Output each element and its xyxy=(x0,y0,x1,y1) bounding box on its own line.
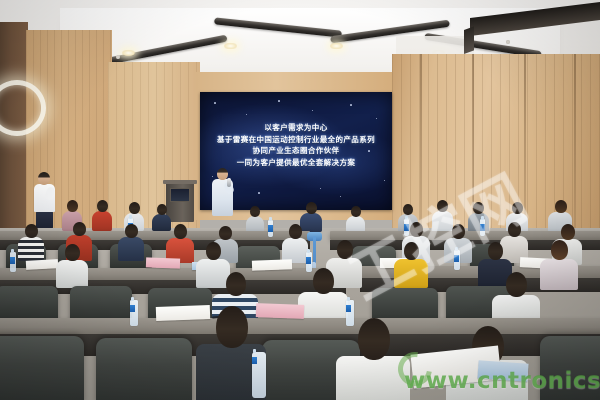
standing-attendee-head xyxy=(38,172,50,185)
attendee-head xyxy=(289,224,302,239)
water-bottle xyxy=(480,219,485,236)
attendee-head xyxy=(561,224,575,240)
attendee-torso xyxy=(92,211,112,231)
attendee-head xyxy=(216,306,248,348)
chair-foreground xyxy=(96,338,192,400)
attendee-head xyxy=(226,272,246,296)
attendee-torso xyxy=(56,260,88,288)
attendee-head xyxy=(219,226,232,240)
ceiling-spotlight xyxy=(224,43,237,49)
attendee-head xyxy=(403,204,413,215)
standing-attendee-left xyxy=(34,172,56,228)
chair-foreground xyxy=(0,336,84,400)
attendee-head xyxy=(129,202,140,214)
attendee-head xyxy=(97,200,108,212)
attendee-head xyxy=(555,200,567,213)
attendee-head xyxy=(174,224,187,239)
attendee-head xyxy=(508,222,521,237)
ceiling-sprinkler xyxy=(116,55,120,59)
wall-corner-edge xyxy=(464,26,474,54)
conference-photo: 以客户需求为中心 基于雷赛在中国运动控制行业最全的产品系列 协同产业生态圈合作伙… xyxy=(0,0,600,400)
attendee-torso xyxy=(540,259,578,290)
attendee-head xyxy=(351,206,361,217)
attendee xyxy=(18,224,44,260)
attendee-torso xyxy=(394,259,428,288)
slide-text-block: 以客户需求为中心 基于雷赛在中国运动控制行业最全的产品系列 协同产业生态圈合作伙… xyxy=(200,122,392,169)
water-bottle xyxy=(10,252,16,272)
attendee-torso xyxy=(118,237,144,261)
attendee-head xyxy=(313,268,334,294)
attendee xyxy=(346,206,365,231)
podium-top xyxy=(163,180,197,184)
attendee-head xyxy=(125,224,138,238)
attendee-head xyxy=(473,202,484,214)
slide-line-2: 基于雷赛在中国运动控制行业最全的产品系列 xyxy=(200,134,392,146)
attendee-head xyxy=(67,200,78,212)
microphone xyxy=(227,178,231,187)
attendee xyxy=(540,240,578,288)
attendee-head xyxy=(506,272,527,297)
water-bottle xyxy=(268,220,273,237)
attendee-torso xyxy=(18,237,44,261)
attendee-torso xyxy=(346,216,365,232)
conference-table xyxy=(0,231,310,240)
attendee-torso xyxy=(336,356,410,400)
attendee-head xyxy=(250,206,260,217)
attendee xyxy=(56,244,88,286)
slide-line-4: 一同为客户提供最优全套解决方案 xyxy=(200,157,392,169)
chair-foreground xyxy=(540,336,600,400)
attendee-head xyxy=(206,242,221,260)
slide-line-3: 协同产业生态圈合作伙伴 xyxy=(200,145,392,157)
podium-monitor xyxy=(170,188,190,202)
attendee xyxy=(394,242,428,286)
attendee-head xyxy=(157,204,167,215)
document-paper xyxy=(26,259,58,270)
attendee-head xyxy=(65,244,80,261)
attendee-head xyxy=(410,222,423,237)
attendee xyxy=(166,224,194,262)
document-folder-pink xyxy=(146,257,180,268)
attendee-torso xyxy=(246,216,264,232)
attendee-head xyxy=(337,240,353,259)
attendee-head xyxy=(404,242,419,260)
attendee-foreground xyxy=(336,318,410,400)
attendee-head xyxy=(25,224,38,238)
water-bottle xyxy=(130,300,138,326)
attendee xyxy=(118,224,144,260)
attendee-head xyxy=(358,318,390,360)
attendee-head xyxy=(452,224,465,239)
ceiling-spotlight xyxy=(122,50,135,56)
water-bottle xyxy=(252,352,266,398)
attendee xyxy=(246,206,264,231)
attendee xyxy=(92,200,112,230)
slide-line-1: 以客户需求为中心 xyxy=(200,122,392,134)
attendee-head xyxy=(512,202,523,214)
ceiling-spotlight xyxy=(330,43,343,49)
ceiling-sprinkler xyxy=(506,40,510,44)
document-paper xyxy=(252,259,292,270)
attendee-head xyxy=(306,202,317,214)
conference-table xyxy=(0,268,346,280)
attendee xyxy=(282,224,308,262)
attendee-head xyxy=(437,200,448,212)
attendee-head xyxy=(488,242,503,260)
document-paper-blue xyxy=(477,360,528,381)
partition-seam xyxy=(574,54,576,250)
partition-seam xyxy=(420,54,422,250)
presenter xyxy=(212,168,234,216)
water-bottle xyxy=(454,250,460,270)
attendee-head xyxy=(73,222,86,236)
attendee-head xyxy=(551,240,568,260)
